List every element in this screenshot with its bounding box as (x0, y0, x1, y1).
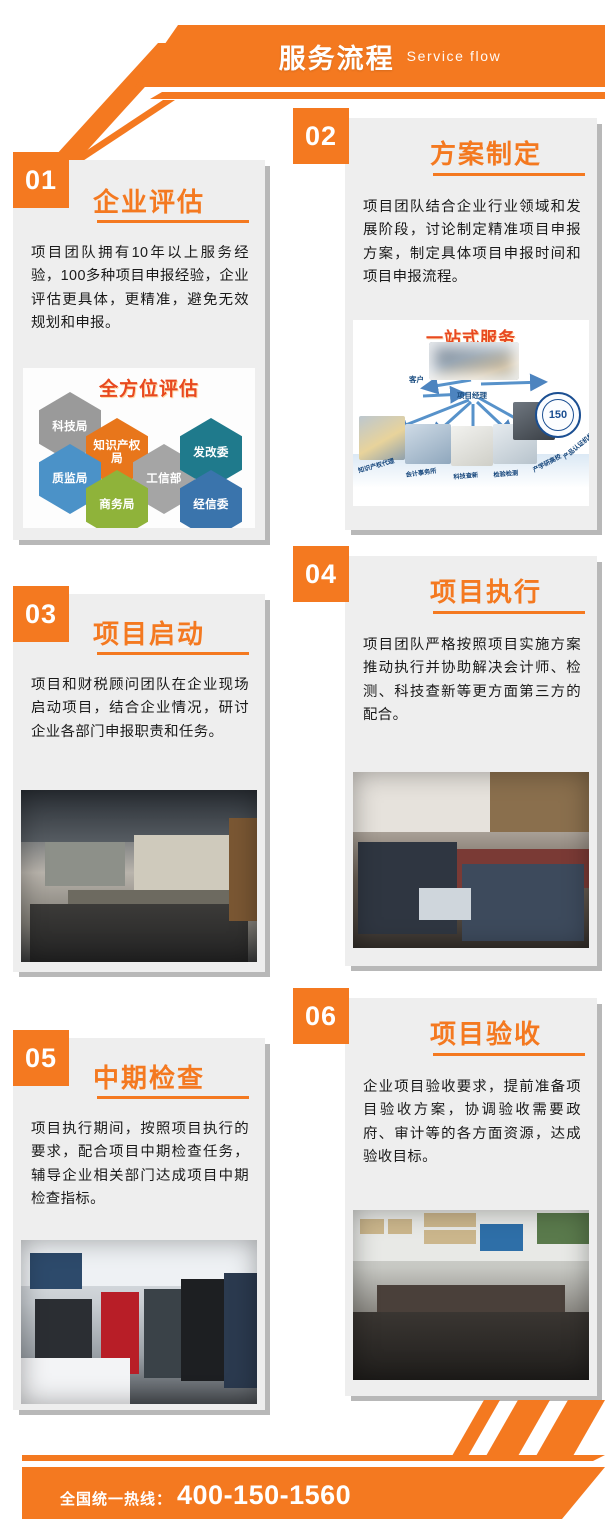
step-title-rule-01 (97, 220, 249, 223)
step-body-04: 项目团队严格按照项目实施方案推动执行并协助解决会计师、检测、科技查新等更方面第三… (363, 634, 581, 727)
page-subtitle: Service flow (407, 48, 502, 64)
footer-hotline-number[interactable]: 400-150-1560 (177, 1480, 351, 1511)
hex-diagram-title: 全方位评估 (99, 374, 199, 401)
photo-working-session (353, 772, 589, 948)
step-title-rule-02 (433, 173, 585, 176)
step-card-04: 项目执行 项目团队严格按照项目实施方案推动执行并协助解决会计师、检测、科技查新等… (345, 556, 597, 966)
infographic-page: 服务流程 Service flow 企业评估 项目团队拥有10年以上服务经验，1… (0, 0, 605, 1538)
service-certification-seal: 150 (535, 392, 581, 438)
service-node-2 (405, 424, 451, 464)
footer-hotline-label: 全国统一热线： (60, 1488, 172, 1509)
step-title-04: 项目执行 (430, 572, 542, 609)
step-title-rule-05 (97, 1096, 249, 1099)
step-body-02: 项目团队结合企业行业领域和发展阶段，讨论制定精准项目申报方案，制定具体项目申报时… (363, 196, 581, 289)
step-card-05: 中期检查 项目执行期间，按照项目执行的要求，配合项目中期检查任务，辅导企业相关部… (13, 1038, 265, 1410)
step-card-03: 项目启动 项目和财税顾问团队在企业现场启动项目，结合企业情况，研讨企业各部门申报… (13, 594, 265, 972)
step-card-06: 项目验收 企业项目验收要求，提前准备项目验收方案，协调验收需要政府、审计等的各方… (345, 998, 597, 1396)
step-card-02: 方案制定 项目团队结合企业行业领域和发展阶段，讨论制定精准项目申报方案，制定具体… (345, 118, 597, 530)
step-number-badge-01: 01 (13, 152, 69, 208)
step-title-02: 方案制定 (430, 134, 542, 171)
photo-site-visit (21, 1240, 257, 1404)
step-title-rule-06 (433, 1053, 585, 1056)
step-number-badge-04: 04 (293, 546, 349, 602)
step-body-03: 项目和财税顾问团队在企业现场启动项目，结合企业情况，研讨企业各部门申报职责和任务… (31, 674, 249, 744)
step-body-05: 项目执行期间，按照项目执行的要求，配合项目中期检查任务，辅导企业相关部门达成项目… (31, 1118, 249, 1211)
step-title-06: 项目验收 (430, 1014, 542, 1051)
step-title-01: 企业评估 (93, 182, 205, 219)
step-number-badge-06: 06 (293, 988, 349, 1044)
step-number-badge-03: 03 (13, 586, 69, 642)
service-label-customer: 客户 (409, 374, 424, 385)
footer-chevron-decoration (430, 1400, 605, 1456)
step-card-01: 企业评估 项目团队拥有10年以上服务经验，100多种项目申报经验，企业评估更具体… (13, 160, 265, 540)
page-title: 服务流程 (279, 37, 395, 76)
header-banner: 服务流程 Service flow (135, 25, 605, 87)
step-title-rule-03 (97, 652, 249, 655)
step-title-03: 项目启动 (93, 614, 205, 651)
header-underline (150, 92, 605, 99)
footer-top-rule (22, 1455, 605, 1461)
step-number-badge-02: 02 (293, 108, 349, 164)
step-number-badge-05: 05 (13, 1030, 69, 1086)
service-label-project-manager: 项目经理 (457, 390, 487, 401)
step-title-rule-04 (433, 611, 585, 614)
service-hub-photo (429, 342, 519, 380)
service-node-3 (451, 426, 493, 466)
service-diagram: 一站式服务 (353, 320, 589, 506)
photo-meeting-room (21, 790, 257, 962)
step-body-01: 项目团队拥有10年以上服务经验，100多种项目申报经验，企业评估更具体，更精准，… (31, 242, 249, 335)
hex-diagram: 全方位评估 科技局 知识产权局 质监局 工信部 商务局 发改委 经信委 (23, 368, 255, 528)
step-title-05: 中期检查 (93, 1058, 205, 1095)
footer-hotline: 全国统一热线： 400-150-1560 (60, 1480, 351, 1511)
photo-acceptance-meeting (353, 1210, 589, 1380)
service-node-1 (359, 416, 405, 460)
step-body-06: 企业项目验收要求，提前准备项目验收方案，协调验收需要政府、审计等的各方面资源，达… (363, 1076, 581, 1169)
page-header: 服务流程 Service flow (0, 18, 605, 108)
